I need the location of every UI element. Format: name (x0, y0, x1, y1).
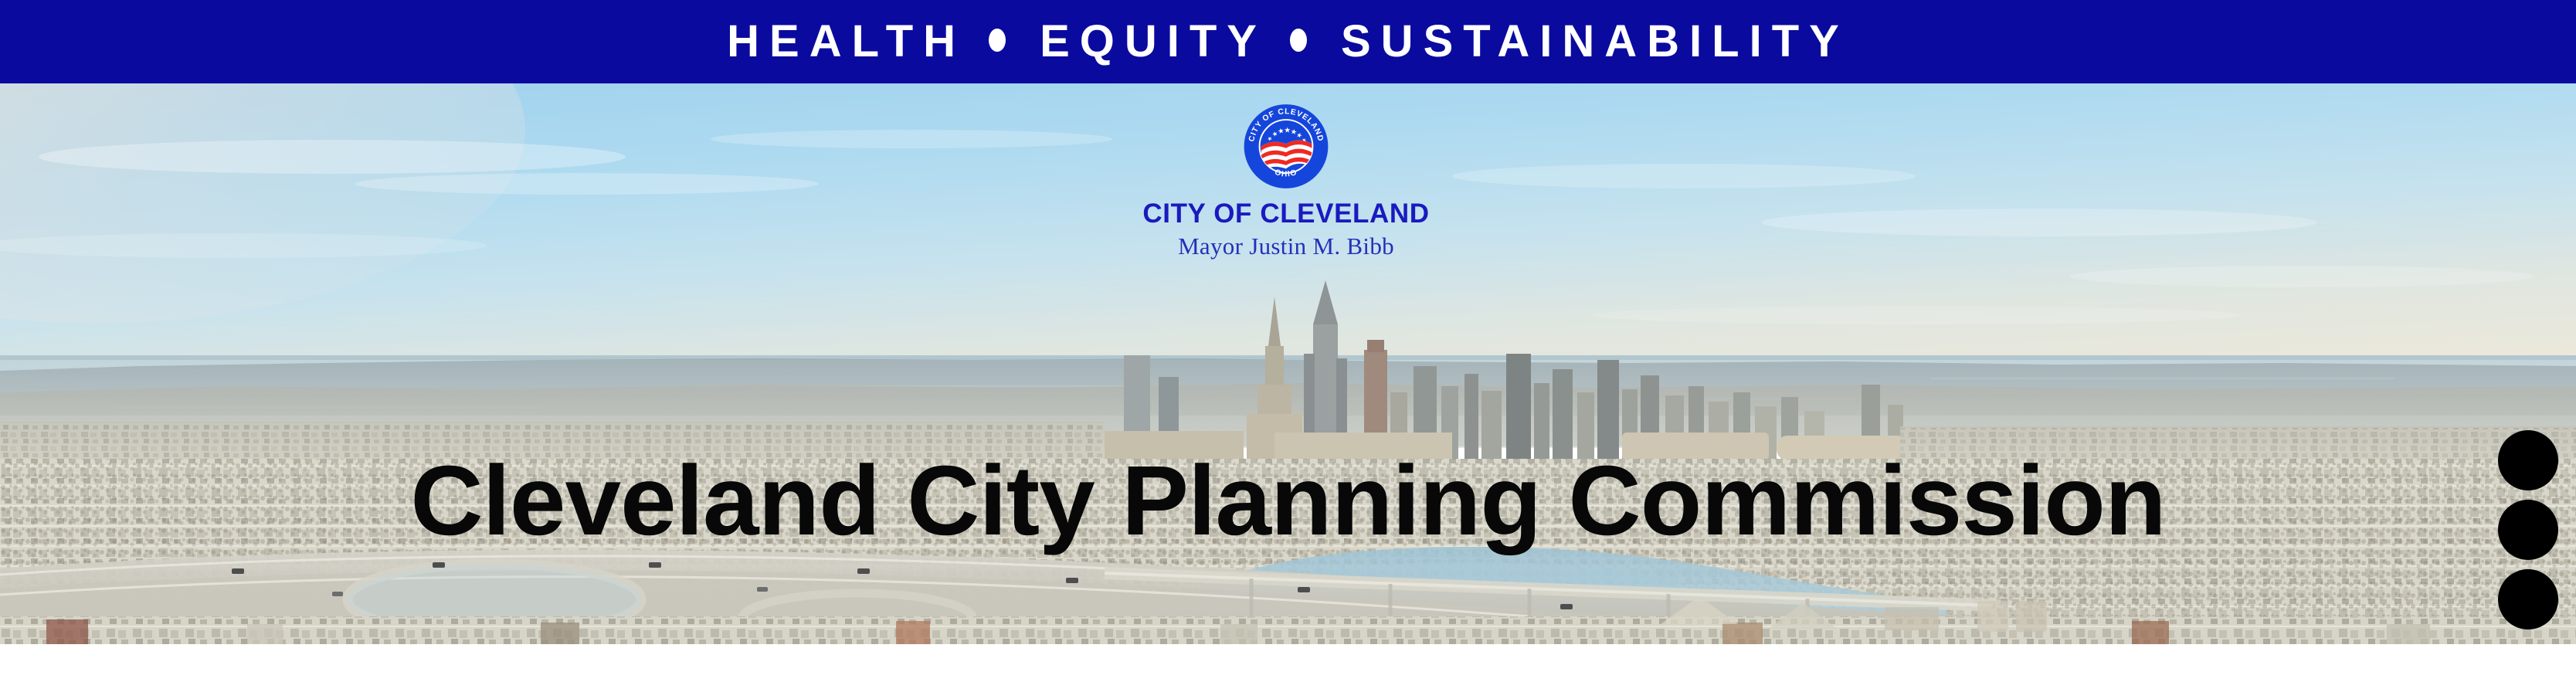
tagline-bar: HEALTH EQUITY SUSTAINABILITY (0, 0, 2576, 83)
mayor-name-label: Mayor Justin M. Bibb (1178, 234, 1394, 258)
tagline-word-equity: EQUITY (1040, 19, 1267, 64)
city-branding-block: CITY OF CLEVELAND OHIO (1091, 103, 1481, 258)
social-links-rail (2497, 430, 2559, 629)
facebook-icon (2510, 581, 2547, 618)
page-root: HEALTH EQUITY SUSTAINABILITY (0, 0, 2576, 682)
tagline-word-health: HEALTH (727, 19, 966, 64)
bullet-dot-icon (1290, 29, 1307, 52)
social-link-facebook[interactable] (2498, 569, 2558, 629)
social-link-youtube[interactable] (2498, 430, 2558, 490)
tagline-word-sustainability: SUSTAINABILITY (1341, 19, 1849, 64)
instagram-icon (2510, 511, 2547, 548)
bullet-dot-icon (989, 29, 1006, 52)
youtube-icon (2510, 442, 2547, 479)
tagline-text-group: HEALTH EQUITY SUSTAINABILITY (727, 19, 1849, 64)
social-link-instagram[interactable] (2498, 500, 2558, 560)
city-of-cleveland-seal-icon: CITY OF CLEVELAND OHIO (1210, 103, 1362, 189)
city-of-cleveland-wordmark: CITY OF CLEVELAND (1142, 200, 1429, 227)
page-title: Cleveland City Planning Commission (0, 452, 2576, 551)
